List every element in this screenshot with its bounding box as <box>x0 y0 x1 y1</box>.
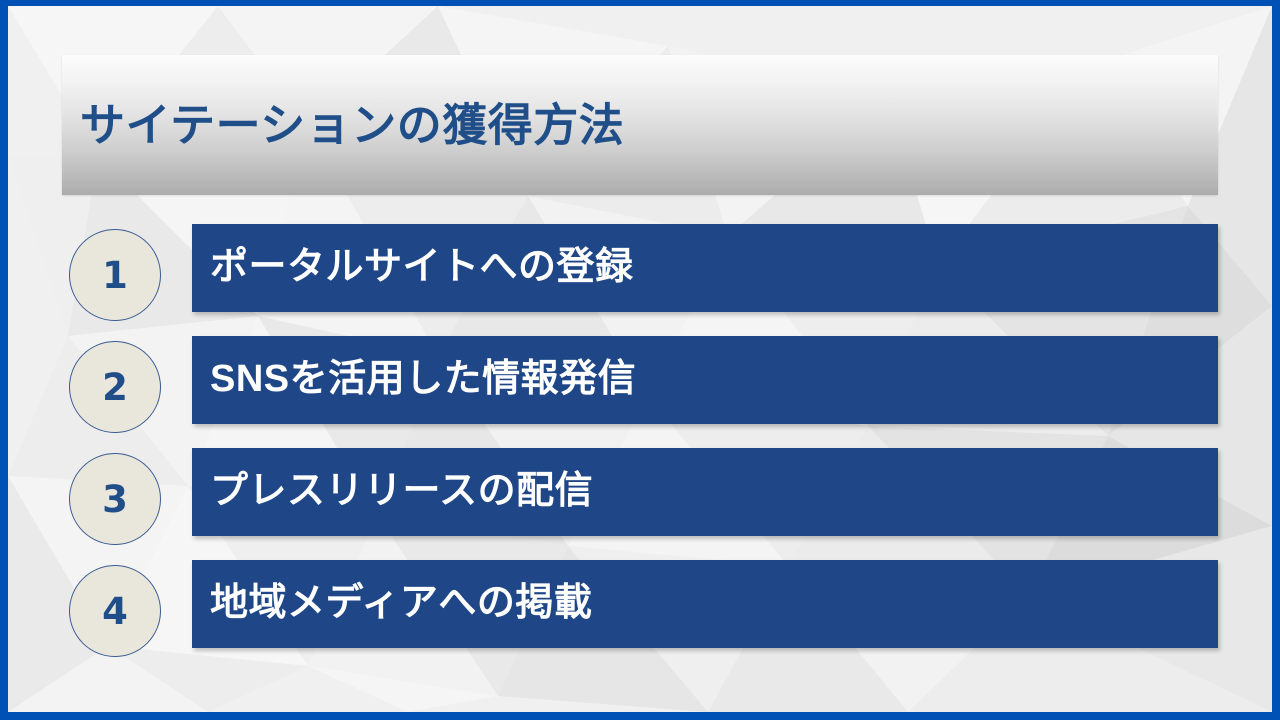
slide-frame: サイテーションの獲得方法 1 ポータルサイトへの登録 2 SNSを活用した情報発… <box>0 0 1280 720</box>
steps-list: 1 ポータルサイトへの登録 2 SNSを活用した情報発信 3 <box>8 224 1272 672</box>
step-number: 4 <box>102 593 128 630</box>
step-number-badge: 3 <box>69 453 161 545</box>
step-number: 2 <box>102 369 128 406</box>
page-title: サイテーションの獲得方法 <box>80 100 624 150</box>
step-bar[interactable]: 地域メディアへの掲載 <box>192 560 1218 648</box>
step-number-badge: 2 <box>69 341 161 433</box>
list-item[interactable]: 4 地域メディアへの掲載 <box>8 560 1272 672</box>
step-number-badge: 4 <box>69 565 161 657</box>
list-item[interactable]: 1 ポータルサイトへの登録 <box>8 224 1272 336</box>
step-label: プレスリリースの配信 <box>192 471 593 513</box>
slide-title-bar: サイテーションの獲得方法 <box>62 55 1218 195</box>
step-number-badge: 1 <box>69 229 161 321</box>
step-bar[interactable]: プレスリリースの配信 <box>192 448 1218 536</box>
step-bar[interactable]: ポータルサイトへの登録 <box>192 224 1218 312</box>
step-label: ポータルサイトへの登録 <box>192 247 634 289</box>
list-item[interactable]: 3 プレスリリースの配信 <box>8 448 1272 560</box>
step-bar[interactable]: SNSを活用した情報発信 <box>192 336 1218 424</box>
step-label: SNSを活用した情報発信 <box>192 359 636 401</box>
list-item[interactable]: 2 SNSを活用した情報発信 <box>8 336 1272 448</box>
slide-content-area: サイテーションの獲得方法 1 ポータルサイトへの登録 2 SNSを活用した情報発… <box>8 6 1272 712</box>
step-label: 地域メディアへの掲載 <box>192 583 592 625</box>
step-number: 1 <box>102 257 128 294</box>
step-number: 3 <box>102 481 128 518</box>
